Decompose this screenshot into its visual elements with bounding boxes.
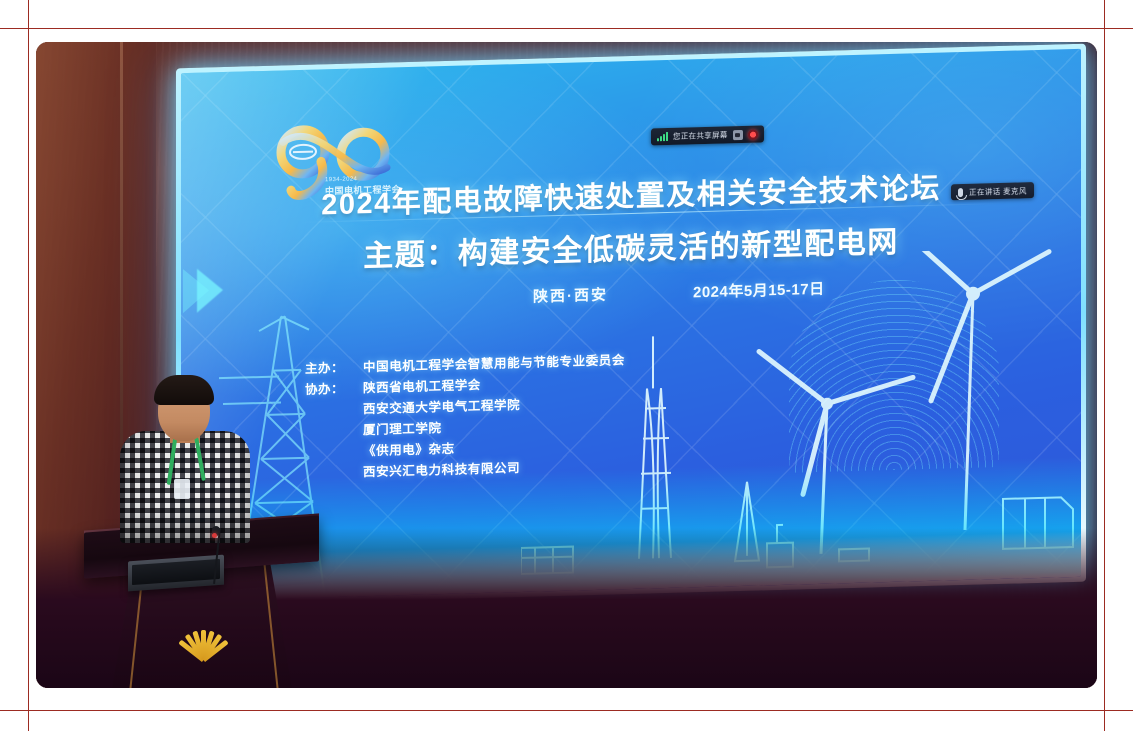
record-button[interactable] [748, 129, 758, 139]
slide-title-main: 2024年配电故障快速处置及相关安全技术论坛 [321, 165, 941, 224]
slide-organizers: 主办： 中国电机工程学会智慧用能与节能专业委员会 协办： 陕西省电机工程学会 西… [305, 349, 625, 484]
slide-place: 陕西·西安 [533, 284, 608, 307]
laptop-screen [132, 559, 220, 585]
signal-bars-icon [657, 132, 668, 141]
stop-share-button[interactable] [733, 129, 743, 139]
microphone-status-label: 正在讲话 麦克风 [969, 185, 1027, 198]
crop-frame-line-top [0, 28, 1133, 29]
crop-frame-line-bottom [0, 710, 1133, 711]
screen-share-label: 您正在共享屏幕 [673, 129, 728, 141]
speaker-person [114, 379, 254, 544]
slide-title-theme: 主题：构建安全低碳灵活的新型配电网 [363, 217, 899, 275]
microphone-status-pill[interactable]: 正在讲话 麦克风 [951, 182, 1034, 200]
microphone-icon [958, 188, 963, 197]
speaker-badge [174, 479, 190, 499]
crop-frame-line-left [28, 0, 29, 731]
organizer-label: 协办： [305, 377, 363, 398]
organizer-value: 陕西省电机工程学会 [363, 374, 481, 396]
organizer-value: 厦门理工学院 [363, 417, 442, 438]
speaker-hair [154, 375, 214, 405]
organizer-label: 主办： [305, 356, 363, 377]
crop-frame-line-right [1104, 0, 1105, 731]
organizer-value: 西安兴汇电力科技有限公司 [363, 457, 520, 480]
slide-date: 2024年5月15-17日 [693, 278, 825, 303]
organizer-value: 西安交通大学电气工程学院 [363, 394, 520, 417]
page-root: 1934-2024 中国电机工程学会 2024年配电故障快速处置及相关安全技术论… [0, 0, 1133, 731]
conference-photo: 1934-2024 中国电机工程学会 2024年配电故障快速处置及相关安全技术论… [36, 42, 1097, 688]
screen-share-toolbar[interactable]: 您正在共享屏幕 [651, 125, 764, 145]
gold-fan-emblem-icon [180, 626, 226, 660]
microphone-indicator-light [212, 533, 217, 538]
organizer-value: 《供用电》杂志 [363, 438, 455, 459]
